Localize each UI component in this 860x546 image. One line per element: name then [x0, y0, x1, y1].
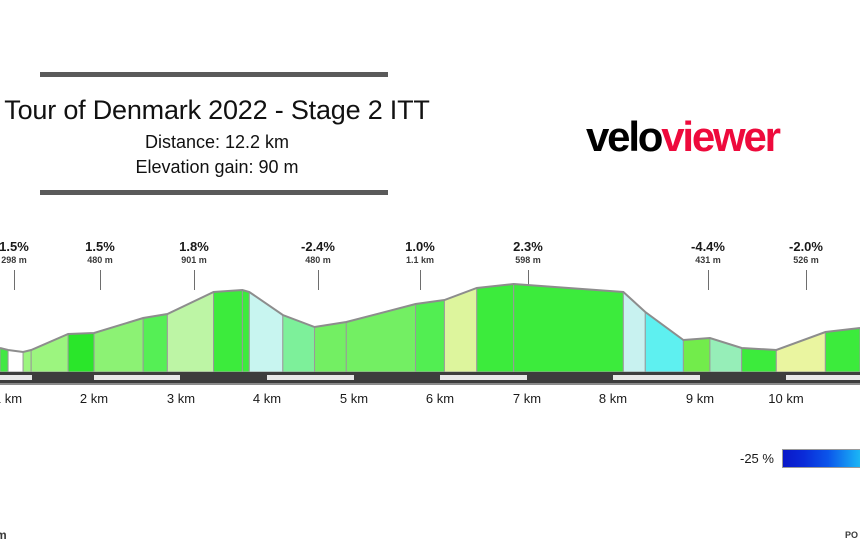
logo-text-viewer: viewer	[661, 113, 779, 160]
profile-segment[interactable]	[825, 328, 860, 372]
callout-gradient-pct: 1.5%	[55, 240, 145, 254]
x-axis-labels: 1 km2 km3 km4 km5 km6 km7 km8 km9 km10 k…	[0, 391, 860, 413]
profile-segment[interactable]	[416, 300, 445, 372]
profile-segment[interactable]	[683, 338, 710, 372]
x-axis-tick-label: 8 km	[573, 391, 653, 406]
profile-segment[interactable]	[514, 284, 624, 372]
km-stripe	[613, 375, 700, 380]
callout-segment-length: 480 m	[55, 254, 145, 266]
callout-gradient-pct: 1.5%	[0, 240, 59, 254]
callout-segment-length: 431 m	[663, 254, 753, 266]
logo-text-velo: velo	[586, 113, 661, 160]
callout-segment-length: 298 m	[0, 254, 59, 266]
profile-segment[interactable]	[444, 288, 476, 372]
x-axis-tick-label: 5 km	[314, 391, 394, 406]
elevation-profile-chart[interactable]	[0, 270, 860, 372]
gradient-color-legend: -25 %	[740, 448, 860, 468]
profile-segment[interactable]	[143, 314, 167, 372]
gradient-callout: -2.4%480 m	[273, 240, 363, 266]
profile-segment[interactable]	[283, 315, 315, 372]
profile-segment[interactable]	[776, 332, 825, 372]
veloviewer-logo[interactable]: veloviewer	[586, 116, 779, 158]
footer-right-fragment: PO	[845, 530, 858, 540]
gradient-callout: 2.6%473 m	[830, 240, 860, 266]
profile-segment[interactable]	[68, 333, 94, 372]
callout-segment-length: 480 m	[273, 254, 363, 266]
elevation-gain-subtitle: Elevation gain: 90 m	[0, 157, 442, 178]
callout-gradient-pct: 1.0%	[375, 240, 465, 254]
x-axis-tick-label: 9 km	[660, 391, 740, 406]
x-axis-tick-label: 2 km	[54, 391, 134, 406]
profile-segment[interactable]	[623, 292, 645, 372]
callout-segment-length: 598 m	[483, 254, 573, 266]
x-axis-tick-label: 7 km	[487, 391, 567, 406]
km-stripe	[440, 375, 527, 380]
profile-segment[interactable]	[346, 304, 415, 372]
callout-gradient-pct: 1.8%	[149, 240, 239, 254]
x-axis-tick-label: 3 km	[141, 391, 221, 406]
profile-segment[interactable]	[0, 348, 8, 372]
x-axis-tick-label: 4 km	[227, 391, 307, 406]
page-title: Tour of Denmark 2022 - Stage 2 ITT	[0, 95, 442, 126]
profile-segment[interactable]	[8, 350, 23, 372]
footer-left-fragment: m	[0, 528, 7, 542]
legend-gradient-bar	[782, 449, 860, 468]
x-axis-tick-label: 1 km	[0, 391, 48, 406]
profile-segment[interactable]	[214, 290, 243, 372]
callout-gradient-pct: -4.4%	[663, 240, 753, 254]
gradient-callout: -4.4%431 m	[663, 240, 753, 266]
callout-segment-length: 1.1 km	[375, 254, 465, 266]
x-axis-tick-label: 6 km	[400, 391, 480, 406]
callout-gradient-pct: 2.3%	[483, 240, 573, 254]
km-stripe	[0, 375, 32, 380]
header-rule-top	[40, 72, 388, 77]
callout-segment-length: 901 m	[149, 254, 239, 266]
km-stripe	[94, 375, 180, 380]
distance-subtitle: Distance: 12.2 km	[0, 132, 442, 153]
profile-segment[interactable]	[742, 348, 777, 372]
callout-segment-length: 473 m	[830, 254, 860, 266]
gradient-callout: 1.8%901 m	[149, 240, 239, 266]
profile-segment[interactable]	[645, 312, 683, 372]
callout-gradient-pct: 2.6%	[830, 240, 860, 254]
km-stripe	[786, 375, 860, 380]
legend-min-value-label: -25 %	[740, 451, 774, 466]
gradient-callout: 1.5%480 m	[55, 240, 145, 266]
profile-segment[interactable]	[477, 284, 514, 372]
axis-baseline	[0, 383, 860, 385]
chart-header: Tour of Denmark 2022 - Stage 2 ITT Dista…	[0, 0, 860, 210]
header-rule-bottom	[40, 190, 388, 195]
profile-segment-group	[0, 284, 860, 372]
distance-axis-bar	[0, 372, 860, 383]
x-axis-tick-label: 10 km	[746, 391, 826, 406]
profile-segment[interactable]	[315, 322, 347, 372]
profile-segment[interactable]	[23, 350, 31, 372]
gradient-callout: 1.0%1.1 km	[375, 240, 465, 266]
gradient-callout: 2.3%598 m	[483, 240, 573, 266]
elevation-profile-svg	[0, 270, 860, 372]
gradient-callout: 1.5%298 m	[0, 240, 59, 266]
callout-gradient-pct: -2.4%	[273, 240, 363, 254]
km-stripe	[267, 375, 354, 380]
profile-segment[interactable]	[242, 290, 249, 372]
profile-segment[interactable]	[31, 334, 68, 372]
